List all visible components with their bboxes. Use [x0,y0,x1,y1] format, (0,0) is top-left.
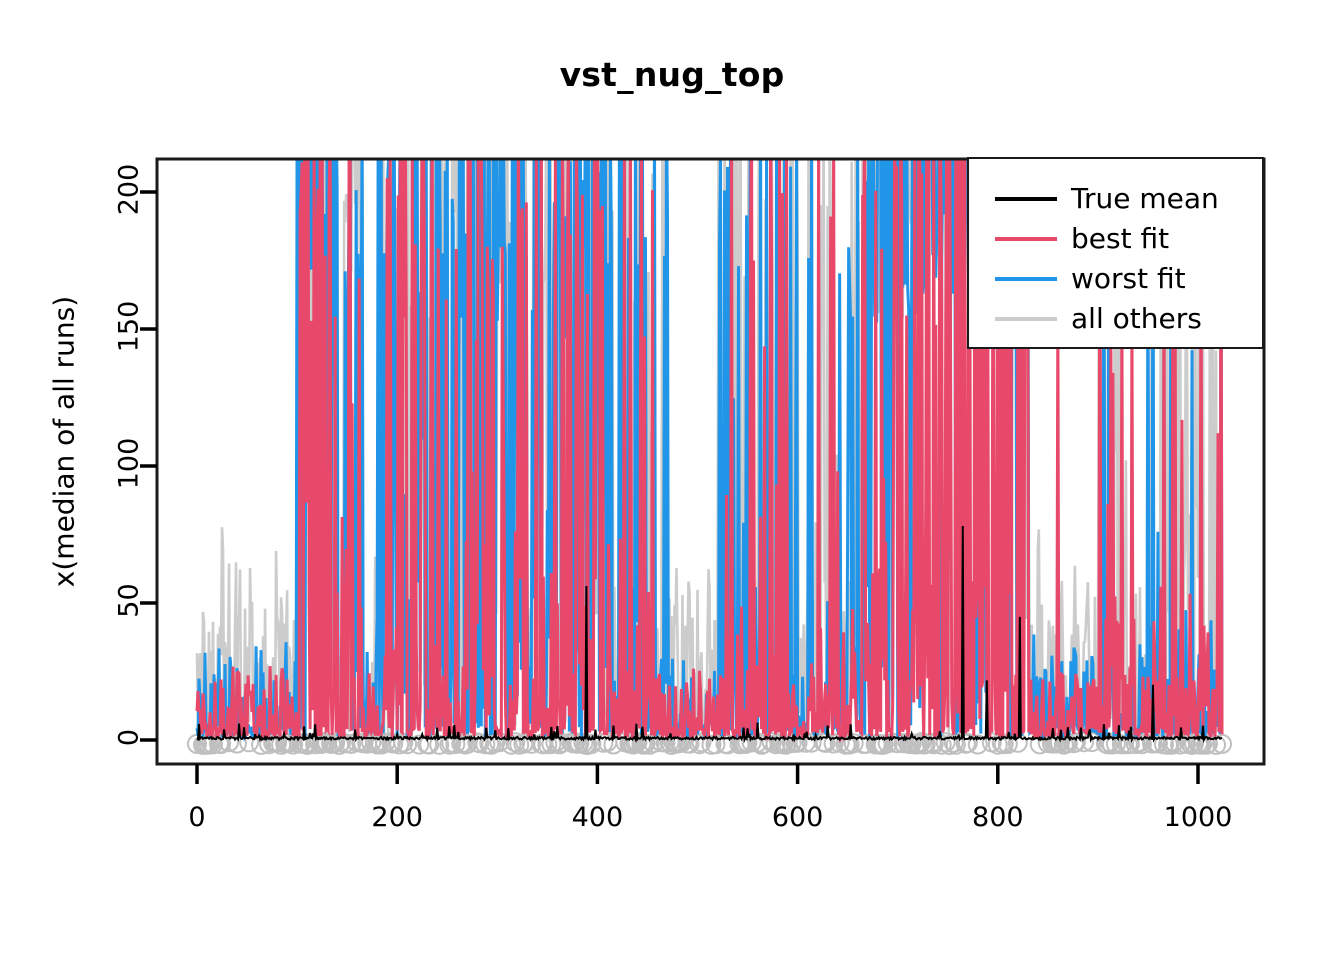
y-tick-label: 150 [114,282,145,372]
x-axis-ticks [197,764,1198,784]
x-tick-label: 800 [928,802,1068,833]
chart-figure: vst_nug_top x(median of all runs) 050100… [0,0,1344,960]
legend-item-true-mean[interactable]: True mean [969,177,1262,221]
legend-item-worst-fit[interactable]: worst fit [969,257,1262,301]
legend-label-best-fit: best fit [1071,225,1169,253]
legend-swatch-all-others [995,317,1057,321]
chart-legend: True mean best fit worst fit all others [967,157,1264,349]
y-tick-label: 100 [114,419,145,509]
x-tick-label: 200 [327,802,467,833]
y-tick-label: 0 [114,693,145,783]
legend-item-all-others[interactable]: all others [969,297,1262,341]
legend-item-best-fit[interactable]: best fit [969,217,1262,261]
x-tick-label: 600 [728,802,868,833]
y-tick-label: 50 [114,556,145,646]
legend-label-true-mean: True mean [1071,185,1219,213]
legend-label-worst-fit: worst fit [1071,265,1186,293]
x-tick-label: 400 [527,802,667,833]
y-tick-label: 200 [114,145,145,235]
legend-swatch-best-fit [995,237,1057,241]
legend-swatch-worst-fit [995,277,1057,281]
legend-label-all-others: all others [1071,305,1202,333]
x-tick-label: 1000 [1128,802,1268,833]
legend-swatch-true-mean [995,197,1057,201]
x-tick-label: 0 [127,802,267,833]
